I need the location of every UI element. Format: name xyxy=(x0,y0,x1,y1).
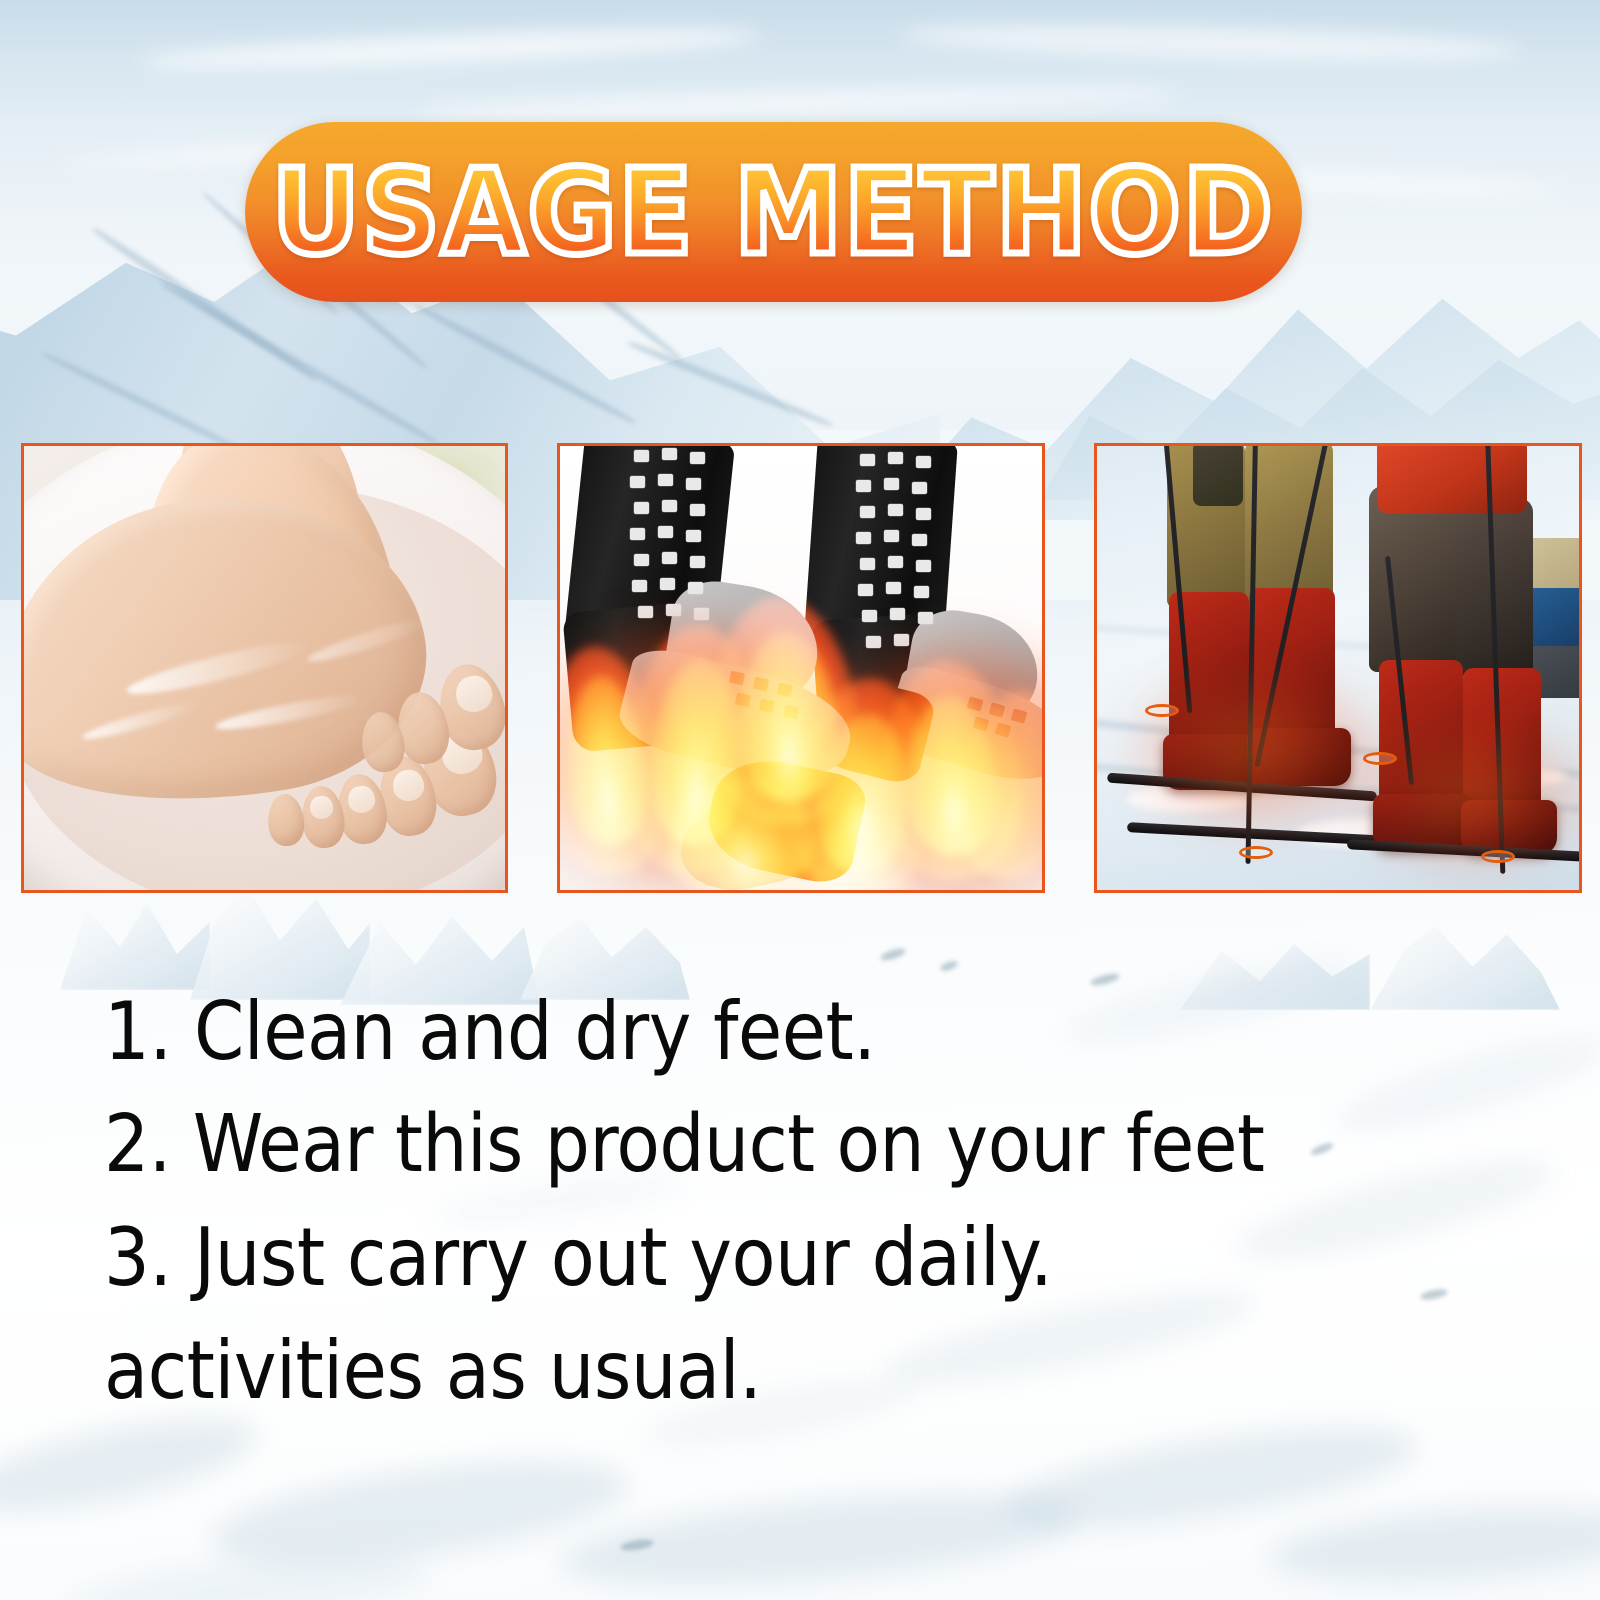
warmth-glow xyxy=(1357,726,1582,866)
usage-step-3-continued: activities as usual. xyxy=(104,1314,1524,1427)
warmth-glow xyxy=(1137,676,1377,826)
usage-step-1: 1. Clean and dry feet. xyxy=(104,975,1524,1088)
photo-panel-row xyxy=(21,443,1580,893)
pole-basket xyxy=(1239,846,1273,859)
promo-graphic-canvas: USAGE METHOD xyxy=(0,0,1600,1600)
red-backpack xyxy=(1377,443,1527,514)
usage-step-2: 2. Wear this product on your feet xyxy=(104,1088,1524,1201)
pant-pocket xyxy=(1193,443,1243,506)
usage-steps-list: 1. Clean and dry feet. 2. Wear this prod… xyxy=(104,975,1524,1427)
usage-step-3: 3. Just carry out your daily. xyxy=(104,1201,1524,1314)
rear-toes-group xyxy=(344,664,508,804)
skiing-outdoors-photo xyxy=(1094,443,1582,893)
heated-socks-photo xyxy=(557,443,1045,893)
clean-dry-feet-photo xyxy=(21,443,508,893)
page-title: USAGE METHOD xyxy=(272,153,1275,271)
little-toe xyxy=(266,793,306,847)
usage-method-banner: USAGE METHOD xyxy=(245,122,1302,302)
